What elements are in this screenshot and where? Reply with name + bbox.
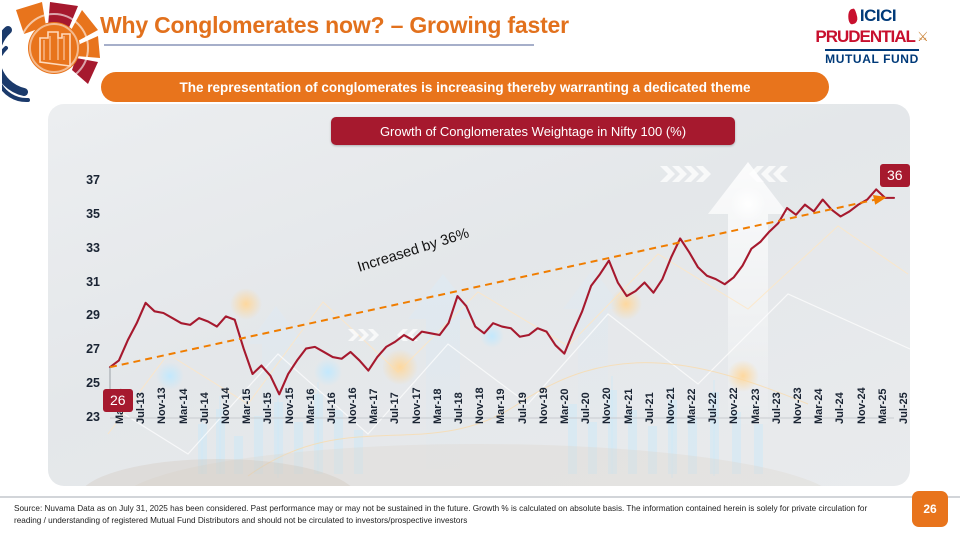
y-axis-tick-label: 31 bbox=[76, 275, 100, 289]
x-axis-tick-label: Nov-20 bbox=[601, 387, 613, 424]
logo-prudential-text: PRUDENTIAL bbox=[815, 27, 915, 47]
key-message-banner: The representation of conglomerates is i… bbox=[101, 72, 829, 102]
slide-root: Why Conglomerates now? – Growing faster … bbox=[0, 0, 960, 540]
brand-ring-graphic bbox=[2, 0, 106, 106]
x-axis-tick-label: Jul-25 bbox=[898, 392, 910, 424]
x-axis-tick-label: Jul-19 bbox=[517, 392, 529, 424]
footer-divider bbox=[0, 496, 960, 498]
x-axis-tick-label: Mar-14 bbox=[178, 389, 190, 424]
x-axis-tick-label: Mar-15 bbox=[241, 389, 253, 424]
x-axis-tick-label: Nov-14 bbox=[220, 387, 232, 424]
logo-icici-text: ICICI bbox=[860, 6, 896, 26]
x-axis-tick-label: Jul-15 bbox=[262, 392, 274, 424]
page-title: Why Conglomerates now? – Growing faster bbox=[100, 12, 569, 39]
x-axis-tick-label: Nov-19 bbox=[538, 387, 550, 424]
logo-mutual-fund-text: MUTUAL FUND bbox=[825, 49, 919, 66]
x-axis-tick-label: Jul-17 bbox=[389, 392, 401, 424]
x-axis-tick-label: Mar-24 bbox=[813, 389, 825, 424]
x-axis-tick-label: Mar-19 bbox=[495, 389, 507, 424]
x-axis-tick-label: Mar-18 bbox=[432, 389, 444, 424]
x-axis-tick-label: Jul-21 bbox=[644, 392, 656, 424]
title-underline bbox=[104, 44, 534, 46]
y-axis-tick-label: 33 bbox=[76, 241, 100, 255]
x-axis-tick-label: Nov-15 bbox=[284, 387, 296, 424]
x-axis-tick-label: Jul-22 bbox=[707, 392, 719, 424]
page-number-badge: 26 bbox=[912, 491, 948, 527]
x-axis-tick-label: Nov-18 bbox=[474, 387, 486, 424]
y-axis-tick-label: 29 bbox=[76, 308, 100, 322]
x-axis-tick-label: Nov-21 bbox=[665, 387, 677, 424]
start-value-label: 26 bbox=[103, 389, 133, 412]
x-axis-tick-label: Jul-24 bbox=[834, 392, 846, 424]
chart-panel: Growth of Conglomerates Weightage in Nif… bbox=[48, 104, 910, 486]
x-axis-tick-label: Nov-16 bbox=[347, 387, 359, 424]
icici-prudential-logo: ICICI PRUDENTIAL ⚔ MUTUAL FUND bbox=[800, 4, 944, 68]
y-axis-tick-label: 27 bbox=[76, 342, 100, 356]
x-axis-tick-label: Mar-20 bbox=[559, 389, 571, 424]
chart-plot-area bbox=[48, 104, 910, 486]
x-axis-tick-label: Jul-13 bbox=[135, 392, 147, 424]
x-axis-tick-label: Nov-22 bbox=[728, 387, 740, 424]
x-axis-tick-label: Nov-24 bbox=[856, 387, 868, 424]
y-axis-tick-label: 35 bbox=[76, 207, 100, 221]
x-axis-tick-label: Jul-18 bbox=[453, 392, 465, 424]
x-axis-tick-label: Mar-16 bbox=[305, 389, 317, 424]
y-axis-tick-label: 23 bbox=[76, 410, 100, 424]
x-axis-tick-label: Mar-17 bbox=[368, 389, 380, 424]
y-axis-tick-label: 25 bbox=[76, 376, 100, 390]
x-axis-tick-label: Mar-23 bbox=[750, 389, 762, 424]
chart-title: Growth of Conglomerates Weightage in Nif… bbox=[331, 117, 735, 145]
x-axis-tick-label: Jul-16 bbox=[326, 392, 338, 424]
x-axis-tick-label: Jul-23 bbox=[771, 392, 783, 424]
x-axis-tick-label: Nov-17 bbox=[411, 387, 423, 424]
x-axis-tick-label: Jul-20 bbox=[580, 392, 592, 424]
x-axis-tick-label: Mar-25 bbox=[877, 389, 889, 424]
x-axis-tick-label: Nov-23 bbox=[792, 387, 804, 424]
x-axis-tick-label: Jul-14 bbox=[199, 392, 211, 424]
source-disclaimer: Source: Nuvama Data as on July 31, 2025 … bbox=[14, 503, 892, 527]
x-axis-tick-label: Nov-13 bbox=[156, 387, 168, 424]
end-value-label: 36 bbox=[880, 164, 910, 187]
y-axis-tick-label: 37 bbox=[76, 173, 100, 187]
x-axis-tick-label: Mar-22 bbox=[686, 389, 698, 424]
x-axis-tick-label: Mar-21 bbox=[623, 389, 635, 424]
prudential-figure-icon: ⚔ bbox=[917, 29, 929, 45]
flame-icon bbox=[846, 8, 858, 25]
